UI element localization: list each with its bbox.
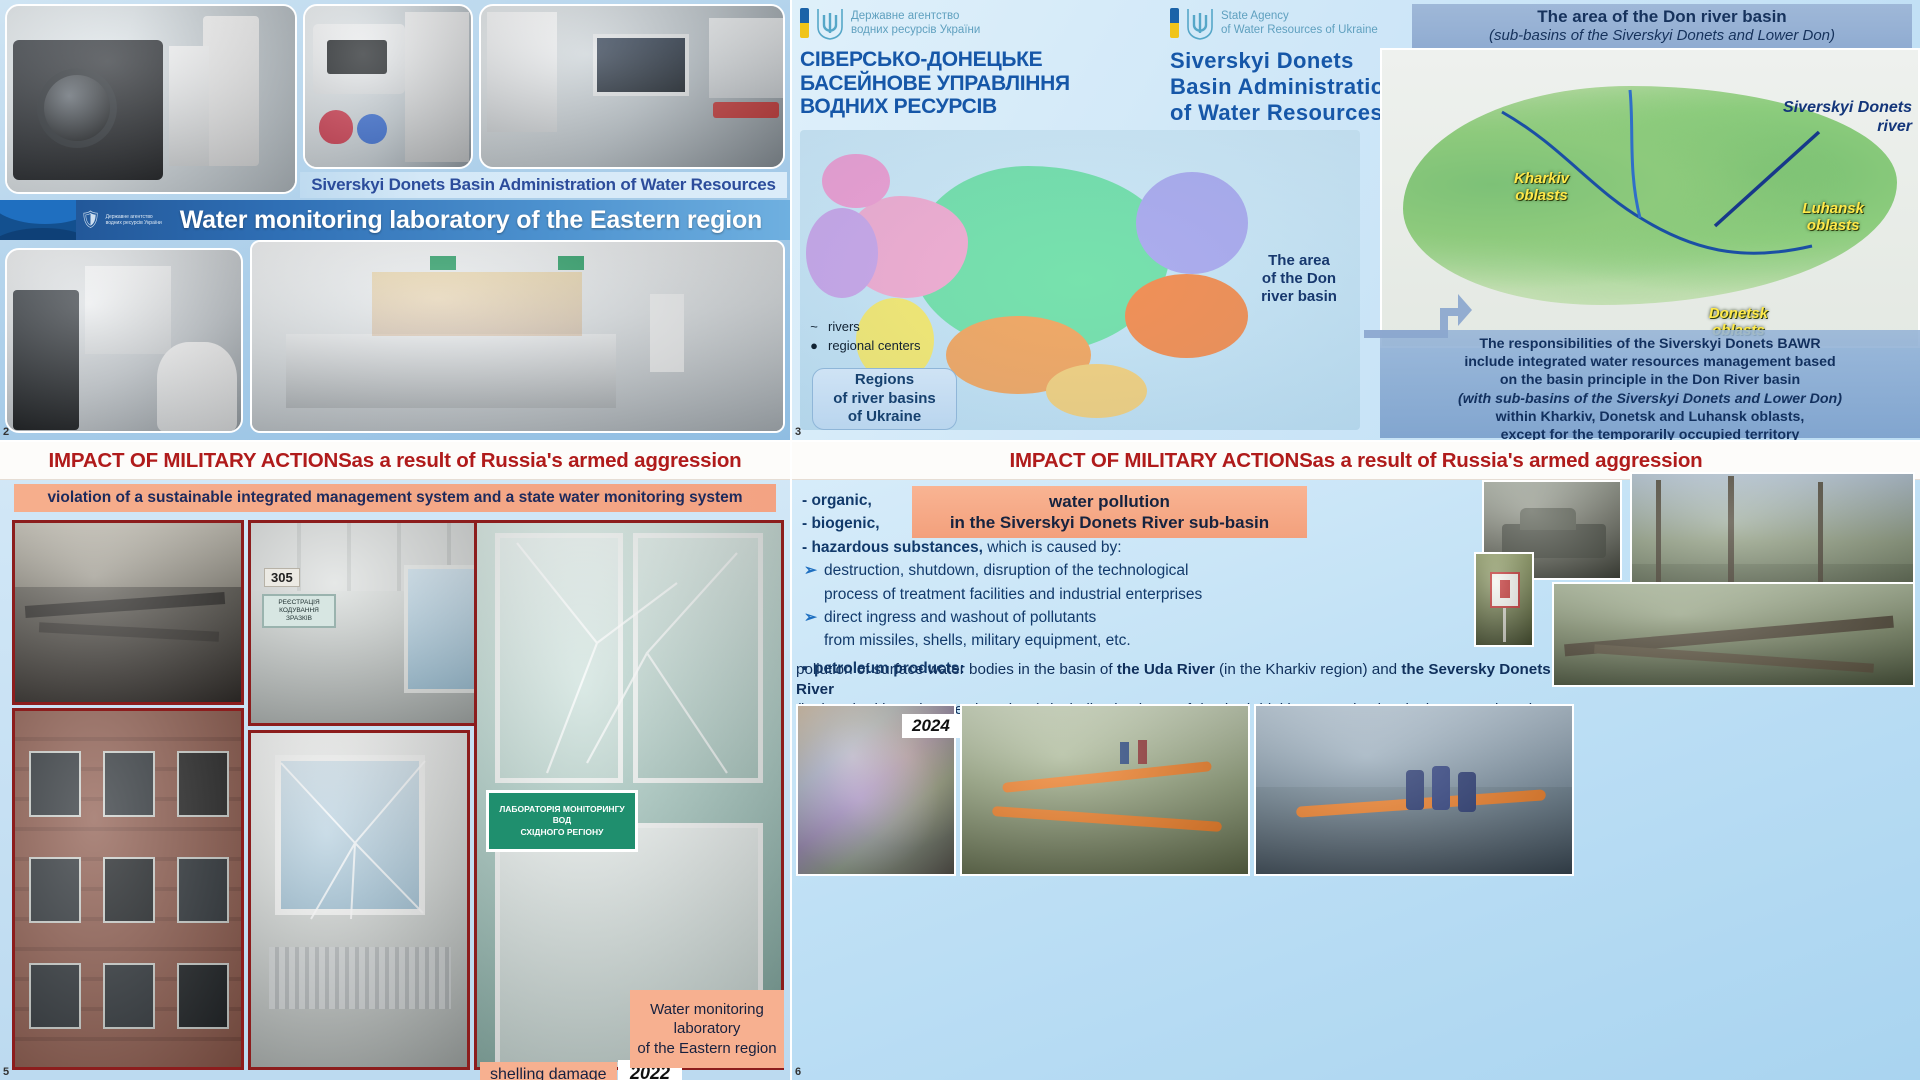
pollution-tag-line1: water pollution [1049, 491, 1170, 512]
bullet-hazardous-rest: which is caused by: [983, 539, 1122, 556]
pollution-tag-line2: in the Siverskyi Donets River sub-basin [950, 512, 1269, 533]
flag-bar-icon [1170, 8, 1179, 38]
photo-lab-instrument-operator [303, 4, 473, 169]
slide5-number: 5 [3, 1066, 9, 1078]
regions-line2: of river basins [833, 390, 936, 409]
photo-damaged-building-facade [12, 708, 244, 1070]
agency-en-line1: State Agency [1221, 10, 1289, 22]
registration-door-sign: РЕЄСТРАЦІЯКОДУВАННЯЗРАЗКІВ [262, 594, 336, 628]
slide2-subtitle: Siverskyi Donets Basin Administration of… [300, 172, 787, 198]
laboratory-green-sign: ЛАБОРАТОРІЯ МОНІТОРИНГУ ВОД СХІДНОГО РЕГ… [486, 790, 638, 852]
ua-title-line3: ВОДНИХ РЕСУРСІВ [800, 95, 1150, 119]
sub-bullet-ingress-line2: from missiles, shells, military equipmen… [802, 630, 1442, 651]
tryzub-icon [815, 6, 845, 42]
legend-rivers-label: rivers [828, 318, 860, 337]
label-luhansk-oblast: Luhanskoblasts [1802, 200, 1864, 235]
water-pollution-tag: water pollution in the Siverskyi Donets … [912, 486, 1307, 538]
don-basin-header: The area of the Don river basin (sub-bas… [1412, 4, 1912, 50]
don-header-line2: (sub-basins of the Siverskyi Donets and … [1418, 27, 1906, 44]
water-monitoring-lab-caption: Water monitoring laboratory of the Easte… [630, 990, 784, 1068]
pointer-arrow-icon [1362, 288, 1492, 344]
year-tag-2024-oil: 2024 [902, 714, 960, 738]
coat-of-arms-icon [1186, 7, 1214, 41]
petro-line1: pollution of surface water bodies in the… [796, 660, 1586, 700]
regions-of-river-basins-callout: Regions of river basins of Ukraine [812, 368, 957, 430]
agency-block-ukrainian: Державне агентство водних ресурсів Украї… [800, 6, 1150, 119]
state-agency-mini-logo: 🛡 Державне агентство водних ресурсів Укр… [76, 209, 170, 230]
slide-5-impact-monitoring-system: IMPACT OF MILITARY ACTIONS as a result o… [0, 442, 790, 1080]
photo-mine-warning-sign [1474, 552, 1534, 647]
petro-p2: (in the Kharkiv region) and [1215, 661, 1402, 678]
slide2-title-banner: 🛡 Державне агентство водних ресурсів Укр… [0, 200, 790, 240]
slide2-title: Water monitoring laboratory of the Easte… [170, 206, 790, 235]
label-siverskyi-donets-river: Siverskyi Donetsriver [1783, 98, 1912, 136]
slide6-number: 6 [795, 1066, 801, 1078]
regions-line3: of Ukraine [848, 408, 921, 427]
slide5-impact-header: IMPACT OF MILITARY ACTIONS as a result o… [0, 442, 790, 480]
slide-2-water-monitoring-laboratory: Siverskyi Donets Basin Administration of… [0, 0, 790, 440]
ua-title-line2: БАСЕЙНОВЕ УПРАВЛІННЯ [800, 72, 1150, 96]
shelling-damage-tag: shelling damage [480, 1062, 617, 1080]
coat-of-arms-icon [816, 7, 844, 41]
agency-ua-line2: водних ресурсів України [851, 24, 980, 36]
photo-lab-computer-workstation [479, 4, 785, 169]
area-of-don-river-basin-label: The areaof the Donriver basin [1247, 252, 1351, 306]
tryzub-icon [1185, 6, 1215, 42]
slide-3-basin-administration: Державне агентство водних ресурсів Украї… [792, 0, 1920, 440]
photo-destroyed-hall [12, 520, 244, 705]
photo-rescuers-deploying-boom [1254, 704, 1574, 876]
sub1-line2-text: process of treatment facilities and indu… [824, 586, 1202, 603]
wm-lab-line2: laboratory [674, 1019, 741, 1039]
mini-logo-line2: водних ресурсів України [106, 220, 162, 226]
photo-lab-analyzer-operator [5, 4, 297, 194]
resp-line6: except for the temporarily occupied terr… [1388, 426, 1912, 440]
legend-regional-centers: ● regional centers [806, 337, 921, 356]
slide6-impact-lead: IMPACT OF MILITARY ACTIONS [1010, 449, 1313, 473]
slide5-impact-rest: as a result of Russia's armed aggression [352, 449, 742, 473]
petro-uda-bold: the Uda River [1117, 661, 1215, 678]
ua-title-block: СІВЕРСЬКО-ДОНЕЦЬКЕ БАСЕЙНОВЕ УПРАВЛІННЯ … [800, 48, 1150, 119]
sub1-line1-text: destruction, shutdown, disruption of the… [824, 562, 1188, 579]
slide-6-water-pollution: IMPACT OF MILITARY ACTIONS as a result o… [792, 442, 1920, 1080]
sub-bullet-ingress-line1: ➢ direct ingress and washout of pollutan… [802, 607, 1442, 628]
arrow-bullet-icon: ➢ [804, 607, 817, 628]
photo-debris-in-river [1552, 582, 1915, 687]
flag-bar-icon [800, 8, 809, 38]
room-number-sign: 305 [264, 568, 300, 587]
photo-lab-benches-room [250, 240, 785, 433]
resp-line3: on the basin principle in the Don River … [1388, 371, 1912, 389]
agency-ua-line1: Державне агентство [851, 10, 959, 22]
resp-line5: within Kharkiv, Donetsk and Luhansk obla… [1388, 408, 1912, 426]
bullet-hazardous: - hazardous substances, which is caused … [802, 537, 1442, 558]
state-agency-logo-ua: Державне агентство водних ресурсів Украї… [800, 6, 1150, 42]
sub-bullet-destruction-line2: process of treatment facilities and indu… [802, 584, 1442, 605]
slide-deck: Siverskyi Donets Basin Administration of… [0, 0, 1920, 1080]
legend-centers-label: regional centers [828, 337, 921, 356]
slide5-impact-lead: IMPACT OF MILITARY ACTIONS [49, 449, 352, 473]
regions-line1: Regions [855, 371, 914, 390]
photo-broken-window-room [248, 730, 470, 1070]
legend-rivers: ~ rivers [806, 318, 921, 337]
slide5-subheader-strip: violation of a sustainable integrated ma… [14, 484, 776, 512]
ua-title-line1: СІВЕРСЬКО-ДОНЕЦЬКЕ [800, 48, 1150, 72]
wm-lab-line3: of the Eastern region [637, 1039, 776, 1059]
mini-logo-line1: Державне агентство [106, 214, 153, 220]
slide2-number: 2 [3, 426, 9, 438]
resp-line4: (with sub-basins of the Siverskyi Donets… [1388, 390, 1912, 408]
slide6-impact-rest: as a result of Russia's armed aggression [1313, 449, 1703, 473]
bullet-hazardous-bold: - hazardous substances, [802, 539, 983, 556]
wave-logo-icon [0, 200, 76, 240]
agency-en-line2: of Water Resources of Ukraine [1221, 24, 1378, 36]
petro-p1: pollution of surface water bodies in the… [796, 661, 1117, 678]
photo-containment-boom-stream [960, 704, 1250, 876]
sub-bullet-destruction-line1: ➢ destruction, shutdown, disruption of t… [802, 560, 1442, 581]
responsibilities-text-box: The responsibilities of the Siverskyi Do… [1380, 330, 1920, 438]
photo-lab-chromatograph-workstation [5, 248, 243, 433]
shattered-glass-overlay [251, 733, 470, 1070]
don-header-line1: The area of the Don river basin [1418, 7, 1906, 27]
map-legend: ~ rivers ● regional centers [806, 318, 921, 356]
tryzub-icon: 🛡 [80, 209, 102, 230]
agency-name-en: State Agency of Water Resources of Ukrai… [1221, 6, 1378, 38]
label-kharkiv-oblast: Kharkivoblasts [1514, 170, 1569, 205]
sub2-line2-text: from missiles, shells, military equipmen… [824, 632, 1131, 649]
agency-name-ua: Державне агентство водних ресурсів Украї… [851, 6, 980, 38]
resp-line2: include integrated water resources manag… [1388, 353, 1912, 371]
center-dot-icon: ● [806, 337, 822, 356]
rivers-symbol-icon: ~ [806, 318, 822, 337]
slide3-number: 3 [795, 426, 801, 438]
wm-lab-line1: Water monitoring [650, 1000, 764, 1020]
sub2-line1-text: direct ingress and washout of pollutants [824, 609, 1096, 626]
arrow-bullet-icon: ➢ [804, 560, 817, 581]
